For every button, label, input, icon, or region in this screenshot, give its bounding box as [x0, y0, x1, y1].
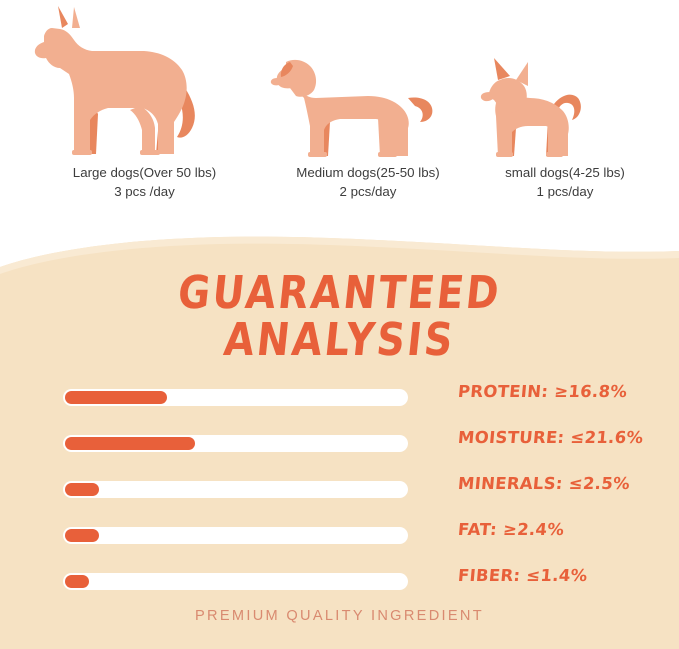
nutrient-bar-fill	[65, 575, 89, 588]
premium-quality-tagline: PREMIUM QUALITY INGREDIENT	[195, 608, 484, 624]
feeding-guide-size-label: small dogs(4-25 lbs)	[470, 164, 660, 183]
small-dog-silhouette-icon	[470, 56, 660, 164]
nutrient-row: FAT: ≥2.4%	[0, 520, 679, 566]
nutrient-row: MOISTURE: ≤21.6%	[0, 428, 679, 474]
nutrient-bar-fill	[65, 483, 99, 496]
page-title-line-2: ANALYSIS	[0, 312, 679, 370]
nutrient-label: FIBER: ≤1.4%	[457, 566, 588, 585]
feeding-guide-serving-label: 1 pcs/day	[470, 183, 660, 202]
nutrient-row: FIBER: ≤1.4%	[0, 566, 679, 612]
nutrient-bar-track	[63, 435, 408, 452]
nutrient-bar-track	[63, 481, 408, 498]
nutrient-list: PROTEIN: ≥16.8% MOISTURE: ≤21.6% MINERAL…	[0, 382, 679, 612]
feeding-guide-serving-label: 3 pcs /day	[22, 183, 267, 202]
nutrient-bar-fill	[65, 437, 195, 450]
feeding-guide-column-small: small dogs(4-25 lbs) 1 pcs/day	[470, 56, 660, 202]
feeding-guide-size-label: Medium dogs(25-50 lbs)	[268, 164, 468, 183]
nutrient-row: PROTEIN: ≥16.8%	[0, 382, 679, 428]
nutrient-bar-track	[63, 573, 408, 590]
nutrient-row: MINERALS: ≤2.5%	[0, 474, 679, 520]
guaranteed-analysis-panel: GUARANTEED ANALYSIS PROTEIN: ≥16.8% MOIS…	[0, 232, 679, 649]
panel-footer: PREMIUM QUALITY INGREDIENT	[0, 607, 679, 625]
nutrient-label: MOISTURE: ≤21.6%	[457, 428, 644, 447]
nutrient-bar-fill	[65, 529, 99, 542]
medium-dog-silhouette-icon	[268, 44, 468, 164]
feeding-guide-column-medium: Medium dogs(25-50 lbs) 2 pcs/day	[268, 44, 468, 202]
nutrient-bar-fill	[65, 391, 167, 404]
nutrient-label: FAT: ≥2.4%	[457, 520, 565, 539]
large-dog-silhouette-icon	[22, 4, 267, 164]
page-title: GUARANTEED ANALYSIS	[0, 272, 679, 366]
feeding-guide-column-large: Large dogs(Over 50 lbs) 3 pcs /day	[22, 4, 267, 202]
nutrient-bar-track	[63, 389, 408, 406]
nutrient-label: PROTEIN: ≥16.8%	[457, 382, 628, 401]
feeding-guide-serving-label: 2 pcs/day	[268, 183, 468, 202]
nutrient-bar-track	[63, 527, 408, 544]
feeding-guide-size-label: Large dogs(Over 50 lbs)	[22, 164, 267, 183]
feeding-guide-section: Large dogs(Over 50 lbs) 3 pcs /day	[0, 0, 679, 240]
nutrient-label: MINERALS: ≤2.5%	[457, 474, 631, 493]
